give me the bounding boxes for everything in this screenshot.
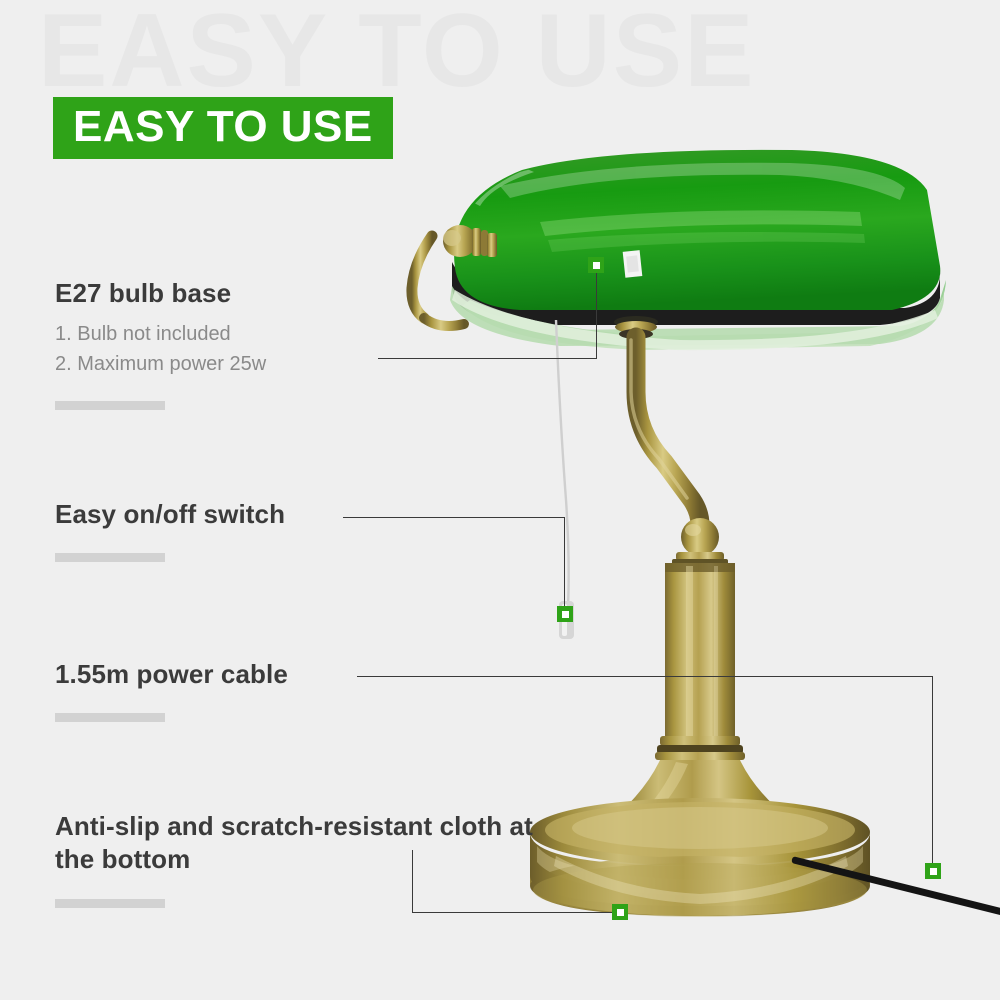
- feature-title-anti-slip: Anti-slip and scratch-resistant cloth at…: [55, 810, 535, 877]
- marker-bulb-base[interactable]: [588, 257, 604, 273]
- feature-divider-anti-slip: [55, 899, 165, 908]
- feature-block-switch: Easy on/off switch: [55, 498, 285, 562]
- marker-switch[interactable]: [557, 606, 573, 622]
- feature-sub-line: 1. Bulb not included: [55, 320, 266, 350]
- leader-line-anti-slip-vertical: [412, 850, 413, 913]
- leader-line-switch-vertical: [564, 517, 565, 614]
- feature-divider-switch: [55, 553, 165, 562]
- feature-sub-bulb-base: 1. Bulb not included 2. Maximum power 25…: [55, 320, 266, 379]
- marker-power-cable[interactable]: [925, 863, 941, 879]
- feature-divider-bulb-base: [55, 401, 165, 410]
- feature-block-anti-slip: Anti-slip and scratch-resistant cloth at…: [55, 810, 535, 908]
- feature-title-bulb-base: E27 bulb base: [55, 277, 266, 310]
- feature-block-bulb-base: E27 bulb base 1. Bulb not included 2. Ma…: [55, 277, 266, 410]
- marker-anti-slip[interactable]: [612, 904, 628, 920]
- headline-banner: EASY TO USE: [53, 97, 393, 159]
- leader-line-anti-slip-horizontal: [412, 912, 617, 913]
- feature-block-power-cable: 1.55m power cable: [55, 658, 288, 722]
- leader-line-bulb-base-vertical: [596, 272, 597, 359]
- headline-banner-label: EASY TO USE: [73, 105, 373, 149]
- feature-sub-line: 2. Maximum power 25w: [55, 350, 266, 380]
- power-cable-wire: [791, 856, 1000, 917]
- feature-divider-power-cable: [55, 713, 165, 722]
- leader-line-switch-horizontal: [343, 517, 565, 518]
- background-watermark: EASY TO USE: [38, 0, 756, 112]
- feature-title-power-cable: 1.55m power cable: [55, 658, 288, 691]
- infographic-page: EASY TO USE: [0, 0, 1000, 1000]
- leader-line-power-cable-vertical: [932, 676, 933, 870]
- leader-line-bulb-base-horizontal: [378, 358, 597, 359]
- leader-line-power-cable-horizontal: [357, 676, 933, 677]
- feature-title-switch: Easy on/off switch: [55, 498, 285, 531]
